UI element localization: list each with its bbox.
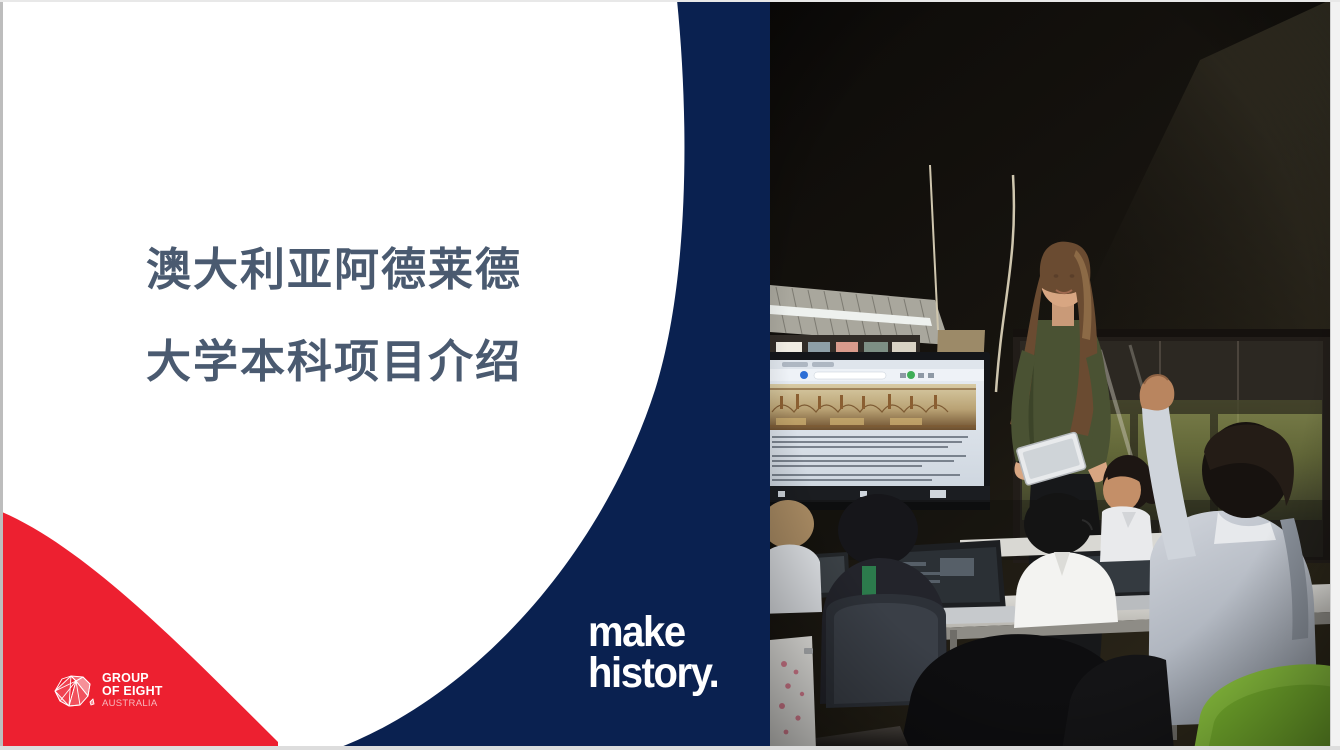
tagline-line-1: make: [588, 612, 718, 653]
slide-edge-top: [0, 0, 1340, 2]
australia-map-icon: [52, 672, 96, 710]
title-line-2: 大学本科项目介绍: [146, 316, 616, 408]
page-title: 澳大利亚阿德莱德 大学本科项目介绍: [146, 224, 616, 408]
make-history-tagline: make history.: [588, 612, 728, 694]
group-of-eight-logo: GROUP OF EIGHT AUSTRALIA: [52, 672, 163, 710]
presentation-slide: 澳大利亚阿德莱德 大学本科项目介绍 make history.: [0, 0, 1340, 750]
classroom-photo: [770, 0, 1330, 750]
go8-line-2: OF EIGHT: [102, 685, 163, 698]
slide-edge-left: [0, 0, 3, 750]
slide-edge-bottom: [0, 746, 1340, 750]
group-of-eight-wordmark: GROUP OF EIGHT AUSTRALIA: [102, 672, 163, 710]
tagline-line-2: history.: [588, 653, 718, 694]
left-title-panel: 澳大利亚阿德莱德 大学本科项目介绍 make history.: [0, 0, 770, 750]
slide-edge-right: [1330, 0, 1340, 750]
go8-line-3: AUSTRALIA: [102, 698, 163, 710]
title-line-1: 澳大利亚阿德莱德: [146, 224, 616, 316]
